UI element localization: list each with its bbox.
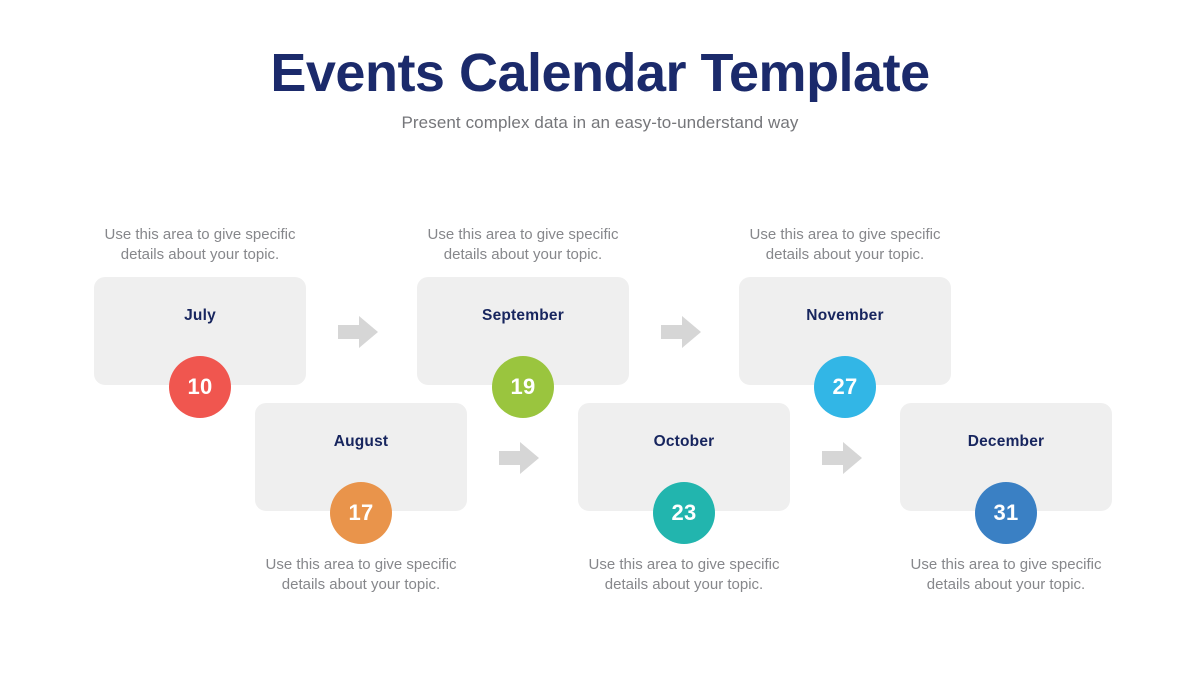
step-august-caption: Use this area to give specific details a… [236, 555, 486, 595]
caption-line-2: details about your topic. [605, 576, 763, 593]
step-october-day-number: 23 [671, 500, 696, 526]
step-september-month-label: September [417, 307, 629, 325]
slide-canvas: Events Calendar Template Present complex… [0, 0, 1200, 675]
caption-line-2: details about your topic. [121, 246, 279, 263]
caption-line-1: Use this area to give specific [750, 226, 941, 243]
step-july-caption: Use this area to give specific details a… [75, 225, 325, 265]
caption-line-2: details about your topic. [927, 576, 1085, 593]
events-timeline-diagram: Use this area to give specific details a… [0, 0, 1200, 675]
step-november-day-number: 27 [832, 374, 857, 400]
step-september-caption: Use this area to give specific details a… [398, 225, 648, 265]
caption-line-1: Use this area to give specific [266, 556, 457, 573]
step-december-day-number: 31 [993, 500, 1018, 526]
caption-line-1: Use this area to give specific [105, 226, 296, 243]
step-november-day-badge[interactable]: 27 [814, 356, 876, 418]
step-september-day-number: 19 [510, 374, 535, 400]
arrow-october-to-december-icon [822, 440, 862, 476]
caption-line-2: details about your topic. [282, 576, 440, 593]
step-december-month-label: December [900, 433, 1112, 451]
step-august-month-label: August [255, 433, 467, 451]
step-october-month-label: October [578, 433, 790, 451]
step-october-day-badge[interactable]: 23 [653, 482, 715, 544]
step-september-day-badge[interactable]: 19 [492, 356, 554, 418]
step-december-day-badge[interactable]: 31 [975, 482, 1037, 544]
step-december-caption: Use this area to give specific details a… [881, 555, 1131, 595]
step-july-day-badge[interactable]: 10 [169, 356, 231, 418]
step-august-day-badge[interactable]: 17 [330, 482, 392, 544]
step-november-month-label: November [739, 307, 951, 325]
caption-line-1: Use this area to give specific [589, 556, 780, 573]
caption-line-1: Use this area to give specific [911, 556, 1102, 573]
arrow-july-to-september-icon [338, 314, 378, 350]
step-july-month-label: July [94, 307, 306, 325]
caption-line-2: details about your topic. [766, 246, 924, 263]
step-november-caption: Use this area to give specific details a… [720, 225, 970, 265]
arrow-september-to-november-icon [661, 314, 701, 350]
step-october-caption: Use this area to give specific details a… [559, 555, 809, 595]
caption-line-1: Use this area to give specific [428, 226, 619, 243]
arrow-august-to-october-icon [499, 440, 539, 476]
step-july-day-number: 10 [187, 374, 212, 400]
caption-line-2: details about your topic. [444, 246, 602, 263]
step-august-day-number: 17 [348, 500, 373, 526]
